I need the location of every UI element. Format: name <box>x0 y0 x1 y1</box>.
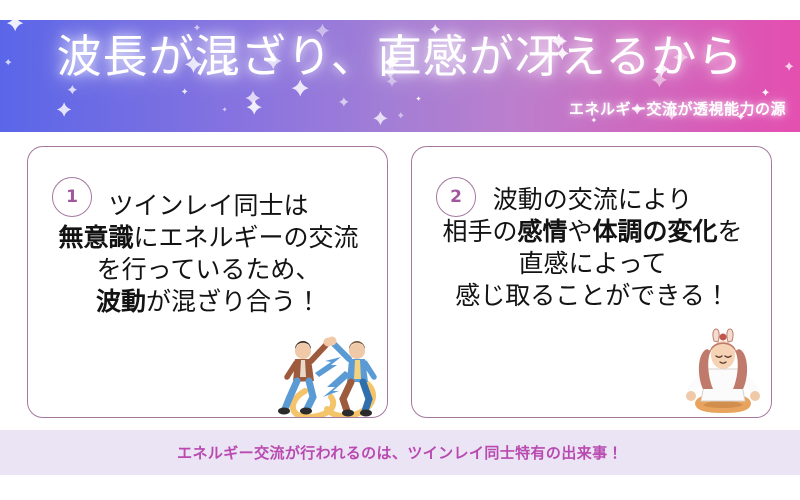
infographic-page: 波長が混ざり、直感が冴えるから エネルギー交流が透視能力の源 1 ツインレイ同士… <box>0 0 800 500</box>
card-1-text-line-2: 無意識にエネルギーの交流 <box>28 223 388 255</box>
emphasis-text: 感情 <box>517 219 567 246</box>
footer-band: エネルギー交流が行われるのは、ツインレイ同士特有の出来事！ <box>0 430 800 475</box>
card-1-text-line-4: 波動が混ざり合う！ <box>28 287 388 319</box>
woman-meditating-icon <box>681 327 765 418</box>
cards-container: 1 ツインレイ同士は無意識にエネルギーの交流を行っているため、波動が混ざり合う！ <box>0 146 800 421</box>
two-people-high-five-icon <box>271 329 388 418</box>
emphasis-text: 波動 <box>96 289 146 316</box>
card-1: 1 ツインレイ同士は無意識にエネルギーの交流を行っているため、波動が混ざり合う！ <box>27 146 388 418</box>
emphasis-text: 体調の変化 <box>593 219 718 246</box>
card-1-number-badge: 1 <box>52 177 92 217</box>
page-title: 波長が混ざり、直感が冴えるから <box>0 26 800 88</box>
card-2-number-badge: 2 <box>436 177 476 217</box>
footer-message: エネルギー交流が行われるのは、ツインレイ同士特有の出来事！ <box>0 430 800 475</box>
card-2-text-line-4: 感じ取ることができる！ <box>412 281 772 313</box>
card-2: 2 波動の交流により相手の感情や体調の変化を直感によって感じ取ることができる！ <box>411 146 772 418</box>
card-2-text-line-3: 直感によって <box>412 249 772 281</box>
card-2-text-line-2: 相手の感情や体調の変化を <box>412 217 772 249</box>
emphasis-text: 無意識 <box>58 225 133 252</box>
card-1-text-line-3: を行っているため、 <box>28 255 388 287</box>
banner-subtitle: エネルギー交流が透視能力の源 <box>569 98 786 119</box>
header-banner: 波長が混ざり、直感が冴えるから エネルギー交流が透視能力の源 <box>0 20 800 132</box>
